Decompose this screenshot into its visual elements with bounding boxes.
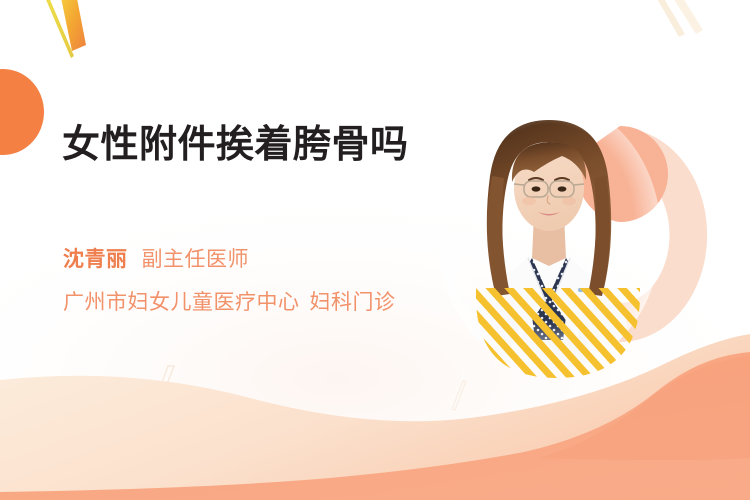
doctor-job-title: 副主任医师 [142,248,250,271]
doctor-name: 沈青丽 [63,248,128,271]
hospital-name: 广州市妇女儿童医疗中心 [63,291,300,314]
doctor-credit-line: 沈青丽副主任医师 [63,246,249,274]
page-title: 女性附件挨着胯骨吗 [62,122,422,169]
text-layer: 女性附件挨着胯骨吗 沈青丽副主任医师 广州市妇女儿童医疗中心妇科门诊 [0,0,750,500]
hospital-department: 妇科门诊 [310,291,396,314]
doctor-qa-card: 女性附件挨着胯骨吗 沈青丽副主任医师 广州市妇女儿童医疗中心妇科门诊 [0,0,750,500]
hospital-credit-line: 广州市妇女儿童医疗中心妇科门诊 [63,289,396,317]
